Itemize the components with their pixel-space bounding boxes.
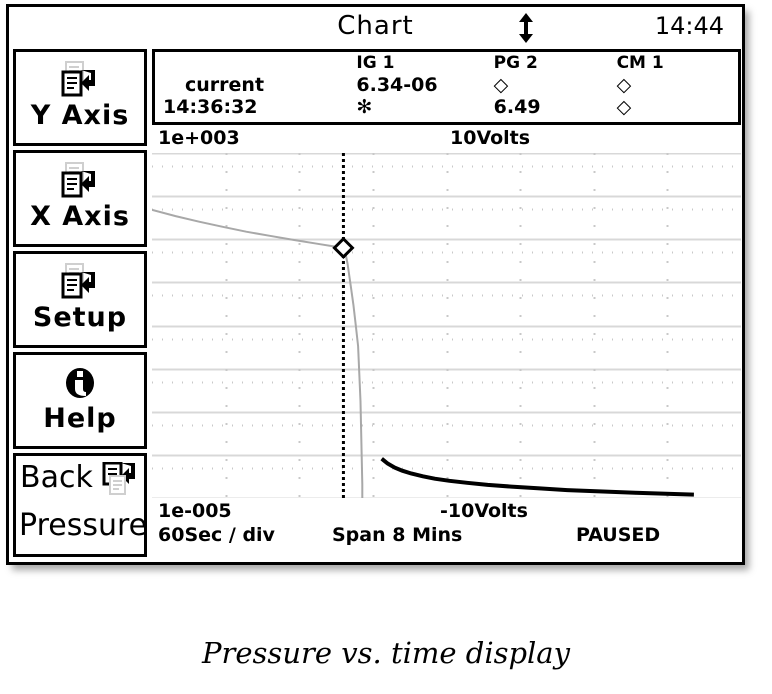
voltage-max-label: 10Volts [450, 127, 530, 149]
status-badge: PAUSED [576, 524, 660, 546]
span-label: Span 8 Mins [332, 524, 462, 546]
back-button-sublabel: Pressure [19, 508, 147, 543]
chart-panel: 1e+003 10Volts 1e-005 -10Volts [152, 127, 741, 561]
readout-table: IG 1 PG 2 CM 1 current 6.34-06 ◇ ◇ 14:36… [155, 52, 738, 118]
table-header-row: IG 1 PG 2 CM 1 [155, 52, 738, 74]
y-axis-min-label: 1e-005 [158, 500, 232, 522]
chart-status-labels: 60Sec / div Span 8 Mins PAUSED [152, 524, 741, 548]
up-down-arrow-icon[interactable] [515, 13, 537, 43]
row-label: 14:36:32 [155, 96, 356, 118]
chart-min-labels: 1e-005 -10Volts [152, 500, 741, 524]
sidebar-item-setup[interactable]: Setup [13, 251, 147, 348]
y-axis-max-label: 1e+003 [158, 127, 240, 149]
gauge-readout-table: IG 1 PG 2 CM 1 current 6.34-06 ◇ ◇ 14:36… [152, 49, 741, 125]
title-bar: Chart 14:44 [9, 7, 742, 47]
sidebar-item-y-axis[interactable]: Y Axis [13, 49, 147, 146]
col-header-cm1: CM 1 [617, 52, 738, 74]
sidebar-item-x-axis[interactable]: X Axis [13, 150, 147, 247]
chart-plot-area[interactable] [152, 153, 741, 498]
chart-svg [152, 153, 741, 498]
cell-ig1: 6.34-06 [356, 74, 493, 96]
figure-caption: Pressure vs. time display [0, 636, 772, 670]
cell-cm1: ◇ [617, 96, 738, 118]
sidebar-item-label: Y Axis [16, 102, 144, 138]
sidebar-item-help[interactable]: Help [13, 352, 147, 449]
document-export-icon [16, 153, 144, 203]
diamond-cursor-marker[interactable] [334, 239, 352, 257]
time-per-division-label: 60Sec / div [158, 524, 275, 546]
col-header-blank [155, 52, 356, 74]
voltage-min-label: -10Volts [440, 500, 528, 522]
table-row: 14:36:32 ✻ 6.49 ◇ [155, 96, 738, 118]
grid-solid-lines [152, 154, 741, 499]
cell-pg2: ◇ [494, 74, 617, 96]
col-header-ig1: IG 1 [356, 52, 493, 74]
back-button-label: Back [20, 460, 93, 495]
instrument-screen: Chart 14:44 Y Axis [6, 4, 745, 565]
cell-cm1: ◇ [617, 74, 738, 96]
sidebar: Y Axis X Axis [13, 49, 147, 561]
document-export-icon [16, 254, 144, 304]
page-title: Chart [9, 11, 742, 41]
clock-display: 14:44 [655, 12, 724, 40]
document-export-icon [16, 52, 144, 102]
chart-bottom-labels: 1e-005 -10Volts 60Sec / div Span 8 Mins … [152, 500, 741, 548]
cell-ig1: ✻ [356, 96, 493, 118]
table-row: current 6.34-06 ◇ ◇ [155, 74, 738, 96]
row-label: current [155, 74, 356, 96]
info-circle-icon [16, 355, 144, 405]
sidebar-item-label: Help [16, 405, 144, 441]
trace-pressure-post-cursor [382, 459, 694, 495]
cell-pg2: 6.49 [494, 96, 617, 118]
sidebar-item-label: Setup [16, 304, 144, 340]
document-back-icon [102, 462, 138, 500]
chart-top-labels: 1e+003 10Volts [152, 127, 741, 153]
col-header-pg2: PG 2 [494, 52, 617, 74]
sidebar-item-label: X Axis [16, 203, 144, 239]
sidebar-item-back[interactable]: Back Pressure [13, 453, 147, 557]
